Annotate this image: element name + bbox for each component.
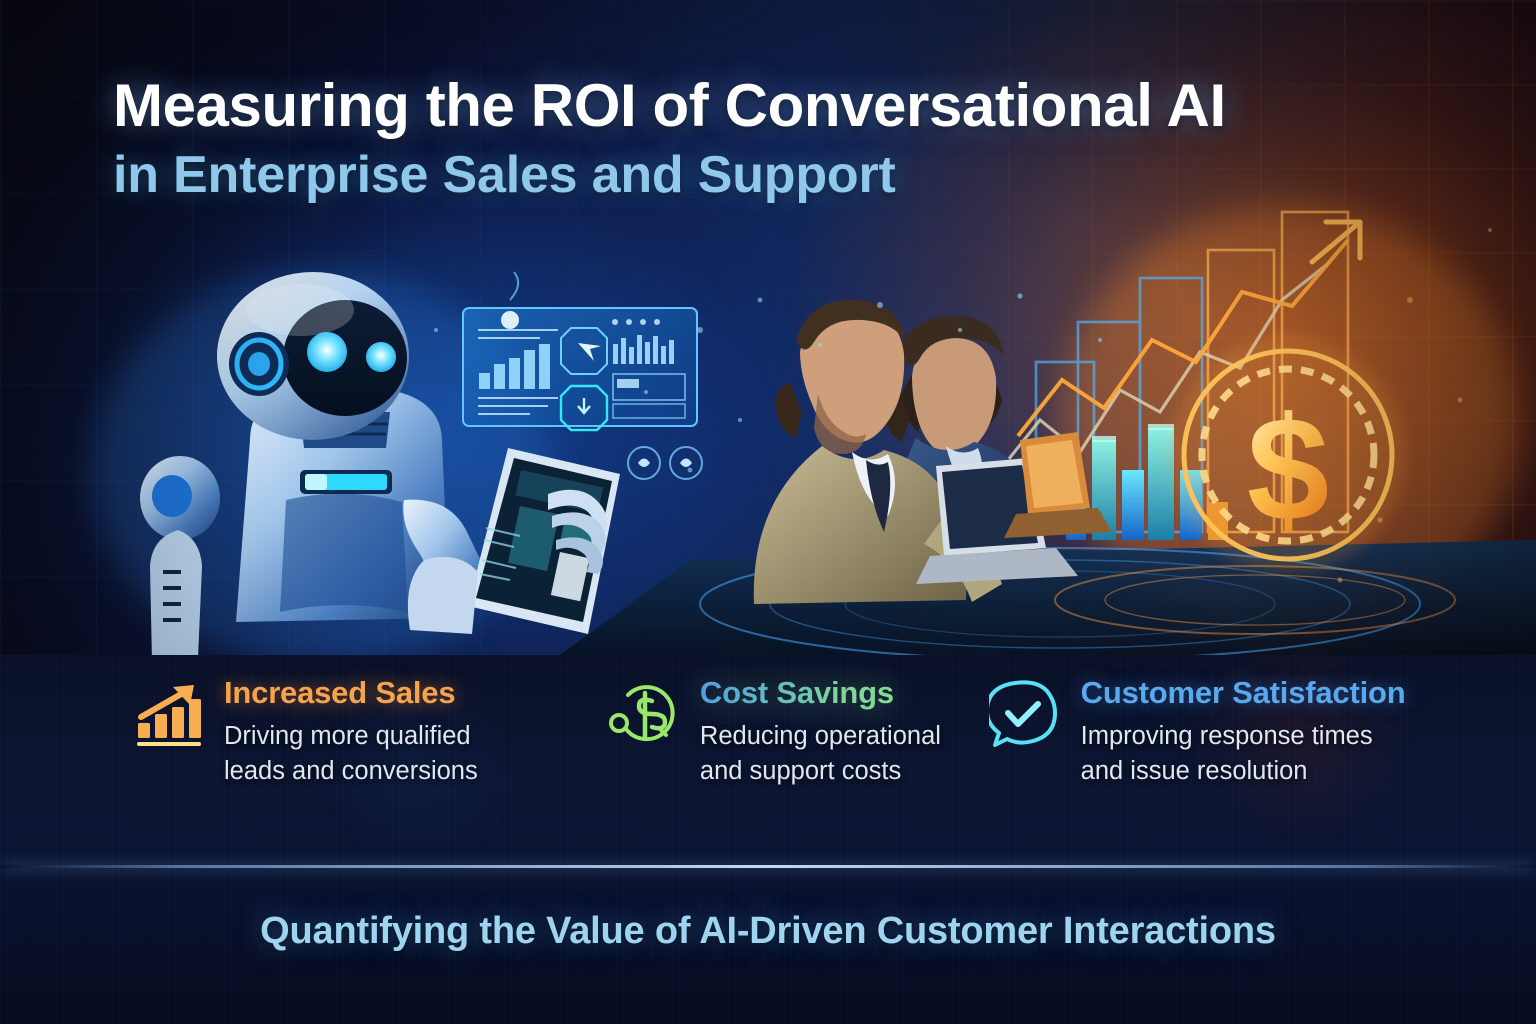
benefit-body-line1: Driving more qualified bbox=[224, 719, 478, 754]
benefit-heading: Customer Satisfaction bbox=[1081, 677, 1406, 710]
page-title-secondary: in Enterprise Sales and Support bbox=[113, 147, 1403, 203]
benefit-body-line1: Reducing operational bbox=[700, 719, 941, 754]
benefit-heading: Increased Sales bbox=[224, 677, 478, 710]
benefit-body-line2: leads and conversions bbox=[224, 754, 478, 789]
benefit-text: Cost Savings Reducing operational and su… bbox=[700, 675, 941, 789]
section-divider bbox=[0, 865, 1536, 868]
benefit-body: Improving response times and issue resol… bbox=[1081, 719, 1406, 789]
chat-bubble-check-icon bbox=[989, 679, 1063, 751]
benefit-body-line2: and support costs bbox=[700, 754, 941, 789]
benefit-card-increased-sales[interactable]: Increased Sales Driving more qualified l… bbox=[132, 675, 608, 850]
benefit-body-line1: Improving response times bbox=[1081, 719, 1406, 754]
benefit-body-line2: and issue resolution bbox=[1081, 754, 1406, 789]
benefit-text: Increased Sales Driving more qualified l… bbox=[224, 675, 478, 789]
benefit-heading: Cost Savings bbox=[700, 677, 941, 710]
benefit-body: Reducing operational and support costs bbox=[700, 719, 941, 789]
benefit-text: Customer Satisfaction Improving response… bbox=[1081, 675, 1406, 789]
bar-chart-growth-icon bbox=[132, 679, 206, 751]
benefits-panel: Increased Sales Driving more qualified l… bbox=[0, 655, 1536, 1024]
dollar-coin-savings-icon bbox=[608, 679, 682, 751]
benefit-card-cost-savings[interactable]: Cost Savings Reducing operational and su… bbox=[608, 675, 989, 850]
benefit-body: Driving more qualified leads and convers… bbox=[224, 719, 478, 789]
benefit-card-customer-satisfaction[interactable]: Customer Satisfaction Improving response… bbox=[989, 675, 1416, 850]
title-block: Measuring the ROI of Conversational AI i… bbox=[113, 74, 1403, 203]
infographic-poster: $ bbox=[0, 0, 1536, 1024]
page-title-primary: Measuring the ROI of Conversational AI bbox=[113, 74, 1403, 138]
tagline: Quantifying the Value of AI-Driven Custo… bbox=[0, 910, 1536, 953]
benefit-card-list: Increased Sales Driving more qualified l… bbox=[0, 675, 1536, 850]
